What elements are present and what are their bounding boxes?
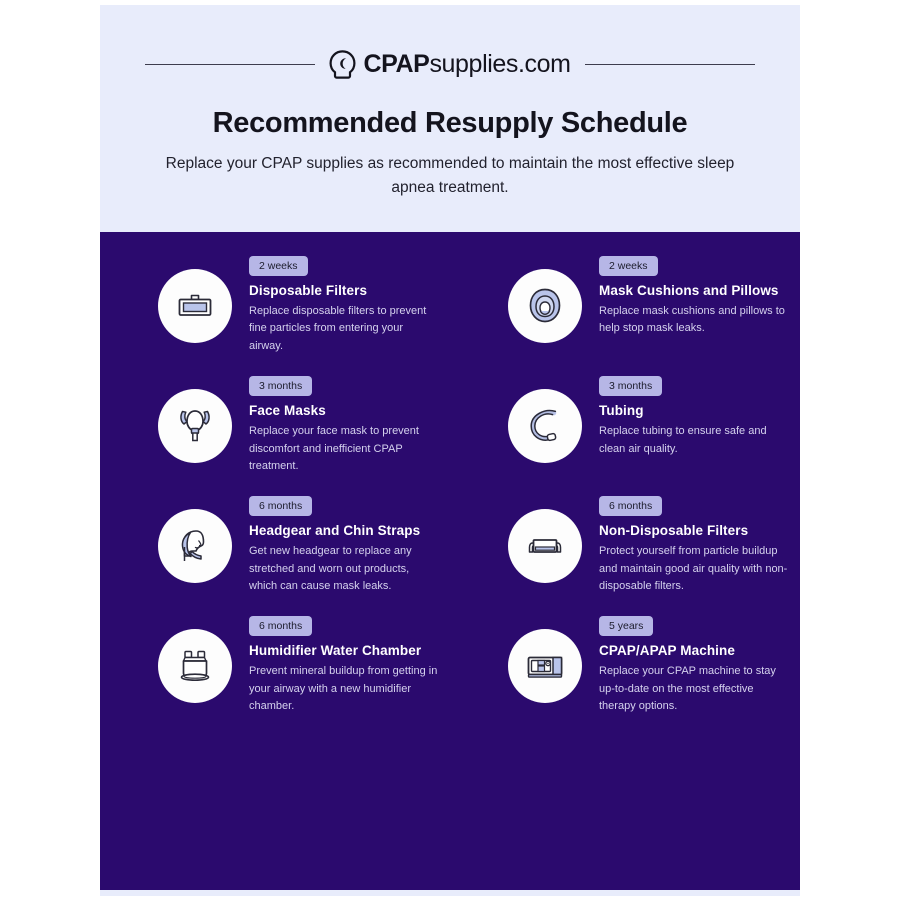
item-body: 6 months Non-Disposable Filters Protect …: [599, 494, 789, 595]
schedule-item-disposable-filters: 2 weeks Disposable Filters Replace dispo…: [100, 254, 450, 355]
item-body: 5 years CPAP/APAP Machine Replace your C…: [599, 614, 789, 715]
item-body: 3 months Face Masks Replace your face ma…: [249, 374, 439, 475]
schedule-item-tubing: 3 months Tubing Replace tubing to ensure…: [450, 374, 800, 475]
brand-name-bold: CPAP: [363, 50, 429, 78]
tubing-icon: [522, 403, 568, 449]
item-title: Face Masks: [249, 403, 439, 418]
divider-right: [585, 64, 755, 66]
face-mask-icon: [172, 403, 218, 449]
disposable-filter-icon: [172, 283, 218, 329]
non-disposable-filter-icon: [522, 523, 568, 569]
schedule-item-face-masks: 3 months Face Masks Replace your face ma…: [100, 374, 450, 475]
item-body: 6 months Humidifier Water Chamber Preven…: [249, 614, 439, 715]
icon-badge: [508, 629, 582, 703]
item-title: Tubing: [599, 403, 789, 418]
schedule-item-cpap-machine: 5 years CPAP/APAP Machine Replace your C…: [450, 614, 800, 715]
item-title: CPAP/APAP Machine: [599, 643, 789, 658]
item-description: Replace tubing to ensure safe and clean …: [599, 423, 789, 458]
cpap-machine-icon: [522, 643, 568, 689]
brand-logo: CPAPsupplies.com: [329, 50, 570, 79]
item-description: Replace mask cushions and pillows to hel…: [599, 303, 789, 338]
item-title: Humidifier Water Chamber: [249, 643, 439, 658]
interval-badge: 6 months: [599, 496, 662, 516]
icon-badge: [158, 389, 232, 463]
page-subtitle: Replace your CPAP supplies as recommende…: [100, 152, 800, 199]
schedule-item-headgear: 6 months Headgear and Chin Straps Get ne…: [100, 494, 450, 595]
interval-badge: 6 months: [249, 616, 312, 636]
humidifier-chamber-icon: [172, 643, 218, 689]
infographic-page: CPAPsupplies.com Recommended Resupply Sc…: [100, 5, 800, 896]
divider-left: [145, 64, 315, 66]
interval-badge: 2 weeks: [599, 256, 658, 276]
icon-badge: [158, 269, 232, 343]
item-body: 6 months Headgear and Chin Straps Get ne…: [249, 494, 439, 595]
item-body: 3 months Tubing Replace tubing to ensure…: [599, 374, 789, 458]
item-description: Replace your CPAP machine to stay up-to-…: [599, 663, 789, 715]
item-description: Prevent mineral buildup from getting in …: [249, 663, 439, 715]
moon-pin-icon: [329, 50, 356, 79]
interval-badge: 3 months: [249, 376, 312, 396]
icon-badge: [508, 509, 582, 583]
interval-badge: 5 years: [599, 616, 653, 636]
item-title: Disposable Filters: [249, 283, 439, 298]
mask-cushion-icon: [522, 283, 568, 329]
header-section: CPAPsupplies.com Recommended Resupply Sc…: [100, 5, 800, 232]
icon-badge: [508, 389, 582, 463]
interval-badge: 6 months: [249, 496, 312, 516]
headgear-icon: [172, 523, 218, 569]
schedule-item-non-disposable-filters: 6 months Non-Disposable Filters Protect …: [450, 494, 800, 595]
interval-badge: 3 months: [599, 376, 662, 396]
schedule-item-humidifier-chamber: 6 months Humidifier Water Chamber Preven…: [100, 614, 450, 715]
brand-name-light: supplies.com: [429, 50, 570, 78]
item-title: Mask Cushions and Pillows: [599, 283, 789, 298]
schedule-item-mask-cushions: 2 weeks Mask Cushions and Pillows Replac…: [450, 254, 800, 355]
item-description: Replace disposable filters to prevent fi…: [249, 303, 439, 355]
icon-badge: [158, 509, 232, 583]
item-description: Replace your face mask to prevent discom…: [249, 423, 439, 475]
page-title: Recommended Resupply Schedule: [100, 107, 800, 140]
footer-section: www.cpapsupplies.com: [100, 890, 800, 896]
icon-badge: [158, 629, 232, 703]
item-body: 2 weeks Mask Cushions and Pillows Replac…: [599, 254, 789, 338]
schedule-grid: 2 weeks Disposable Filters Replace dispo…: [100, 254, 800, 716]
item-description: Protect yourself from particle buildup a…: [599, 543, 789, 595]
interval-badge: 2 weeks: [249, 256, 308, 276]
item-title: Headgear and Chin Straps: [249, 523, 439, 538]
icon-badge: [508, 269, 582, 343]
brand-name: CPAPsupplies.com: [363, 50, 570, 79]
schedule-panel: 2 weeks Disposable Filters Replace dispo…: [100, 232, 800, 890]
item-body: 2 weeks Disposable Filters Replace dispo…: [249, 254, 439, 355]
logo-row: CPAPsupplies.com: [100, 5, 800, 79]
item-description: Get new headgear to replace any stretche…: [249, 543, 439, 595]
item-title: Non-Disposable Filters: [599, 523, 789, 538]
